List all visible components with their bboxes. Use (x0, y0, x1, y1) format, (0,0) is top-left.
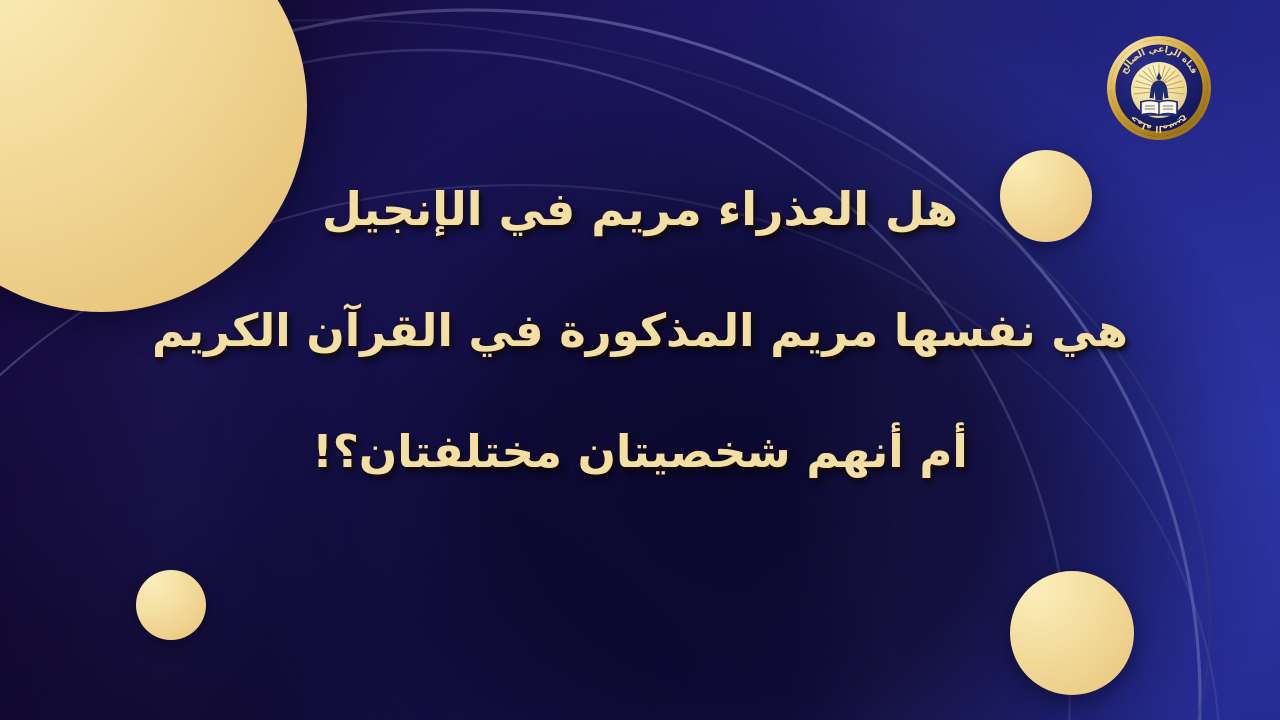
slide-canvas: قناة الراعي الصالح حملة المسيح (0, 0, 1280, 720)
church-seal-logo: قناة الراعي الصالح حملة المسيح (1105, 34, 1213, 142)
gold-circle-bottom-right (1010, 571, 1134, 695)
question-text-block: هل العذراء مريم في الإنجيل هي نفسها مريم… (0, 186, 1280, 474)
logo-open-book (1141, 101, 1177, 116)
question-line-2: هي نفسها مريم المذكورة في القرآن الكريم (0, 308, 1280, 353)
gold-circle-bottom-left (136, 570, 206, 640)
question-line-3: أم أنهم شخصيتان مختلفتان؟! (0, 429, 1280, 474)
question-line-1: هل العذراء مريم في الإنجيل (0, 186, 1280, 232)
